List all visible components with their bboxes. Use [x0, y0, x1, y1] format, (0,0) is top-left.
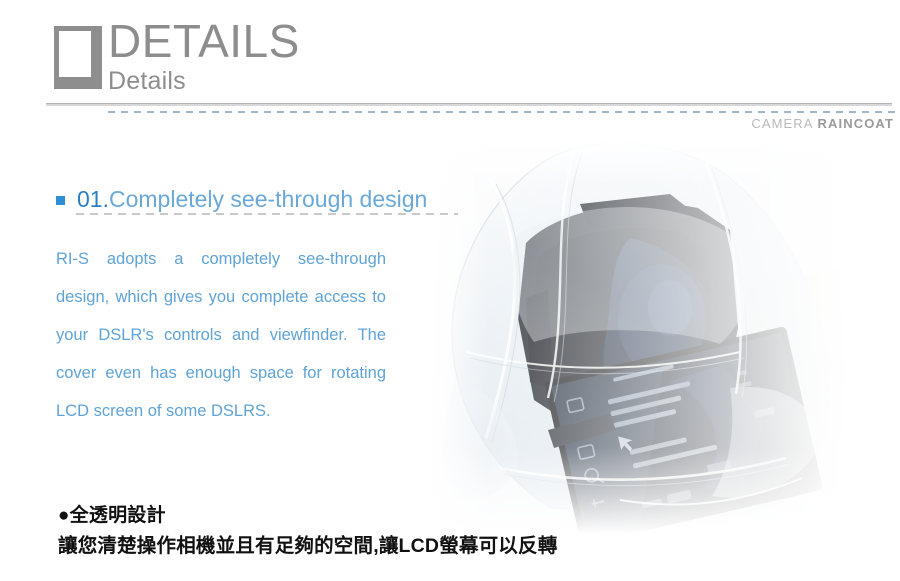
chinese-caption: ●全透明設計 讓您清楚操作相機並且有足夠的空間,讓LCD螢幕可以反轉: [58, 503, 758, 560]
section-body-copy: RI-S adopts a completely see-through des…: [56, 240, 386, 430]
section-heading-label: Completely see-through design: [109, 186, 427, 212]
section-heading-text: 01.Completely see-through design: [77, 184, 427, 214]
header-divider-solid: [46, 103, 892, 106]
section-heading-underline: [76, 213, 458, 215]
brand-tag-bold: RAINCOAT: [818, 116, 894, 131]
product-photo: [430, 138, 848, 534]
details-page: DETAILS Details CAMERA RAINCOAT: [0, 0, 900, 581]
section-number: 01.: [77, 186, 109, 212]
chinese-caption-body: 讓您清楚操作相機並且有足夠的空間,讓LCD螢幕可以反轉: [58, 533, 758, 560]
section-heading: 01.Completely see-through design: [56, 184, 476, 214]
document-square-icon-inner: [59, 31, 91, 77]
document-square-icon: [54, 26, 102, 89]
brand-tag-light: CAMERA: [751, 116, 817, 131]
brand-tag: CAMERA RAINCOAT: [751, 116, 894, 131]
page-subtitle: Details: [108, 67, 708, 95]
page-title: DETAILS: [108, 17, 708, 65]
header-divider-dashed: [108, 111, 900, 113]
chinese-caption-title: ●全透明設計: [58, 503, 758, 529]
square-bullet-icon: [56, 196, 65, 205]
dslr-camera-in-transparent-raincoat-illustration: [430, 138, 848, 534]
section-body-text: RI-S adopts a completely see-through des…: [56, 250, 386, 420]
page-header: DETAILS Details: [0, 0, 900, 112]
title-block: DETAILS Details: [108, 17, 708, 95]
